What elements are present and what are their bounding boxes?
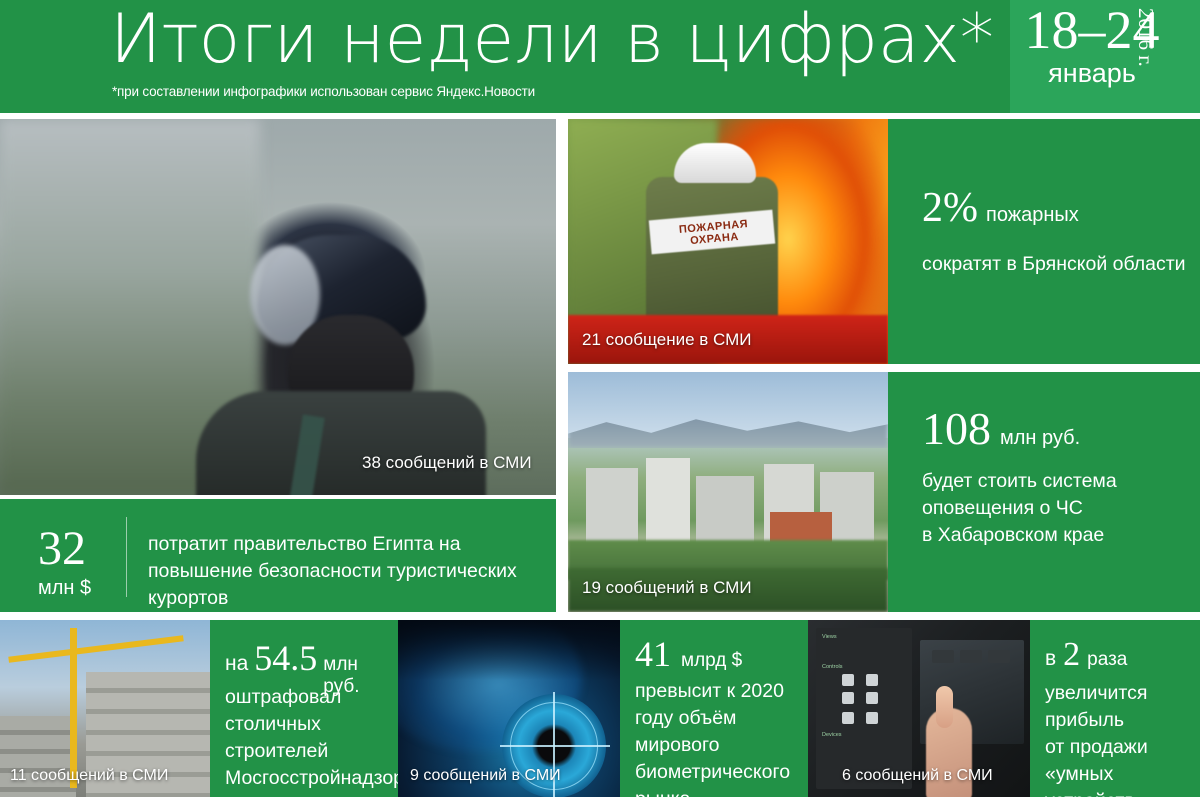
stat-egypt-number-group: 32 млн $ (38, 525, 91, 600)
stat-block-egypt: 32 млн $ потратит правительство Египта н… (0, 499, 556, 612)
stat-smart-number-group: в 2 раза (1045, 638, 1127, 672)
stat-block-biometric-market: 41 млрд $ превысит к 2020 году объём мир… (620, 620, 808, 797)
stat-smart-description-line-4: «умных устройств» (1045, 761, 1200, 797)
eye-icon (842, 692, 854, 704)
stat-biometrics-description-line-1: превысит к 2020 (635, 678, 790, 705)
stat-alert-description-line-1: будет стоить система (922, 468, 1117, 495)
stat-construction-value: 54.5 (254, 640, 317, 676)
stat-firefighters-value: 2% (922, 187, 978, 229)
stat-firefighters-description: сократят в Брянской области (922, 251, 1188, 278)
stat-biometrics-description-line-4: биометрического (635, 759, 790, 786)
thermostat-icon (866, 712, 878, 724)
stat-construction-description-line-1: оштрафовал (225, 684, 398, 711)
stat-alert-number-group: 108 млн руб. (922, 406, 1080, 452)
stat-construction-description: оштрафовал столичных строителей Мосгосст… (225, 684, 398, 792)
stat-block-firefighters: 2% пожарных сократят в Брянской области (888, 119, 1200, 364)
stat-egypt-value: 32 (38, 525, 91, 573)
caption-police: 38 сообщений в СМИ (362, 453, 532, 473)
stat-egypt-divider (126, 517, 127, 597)
stat-construction-description-line-3: строителей (225, 738, 398, 765)
header: Итоги недели в цифрах* *при составлении … (0, 0, 1200, 113)
caption-construction: 11 сообщений в СМИ (10, 767, 168, 785)
stat-alert-description-line-2: оповещения о ЧС (922, 495, 1117, 522)
stat-egypt-unit: млн $ (38, 577, 91, 600)
date-badge: 18–24 январь 2016 г. (1010, 0, 1200, 113)
caption-city: 19 сообщений в СМИ (582, 578, 752, 598)
stat-smart-description-line-3: от продажи (1045, 734, 1200, 761)
header-footnote: *при составлении инфографики использован… (112, 84, 535, 99)
stat-biometrics-number-group: 41 млрд $ (635, 636, 742, 672)
stat-alert-unit: млн руб. (1000, 427, 1080, 450)
ui-chip-shape (932, 650, 954, 663)
stat-block-smart-devices: в 2 раза увеличится прибыль от продажи «… (1030, 620, 1200, 797)
stat-smart-prefix: в (1045, 647, 1056, 671)
stat-construction-prefix: на (225, 652, 248, 676)
ui-chip-shape (988, 650, 1010, 663)
stat-block-alert-system: 108 млн руб. будет стоить система оповещ… (888, 372, 1200, 612)
crosshair-horizontal-icon (500, 745, 610, 747)
stat-biometrics-unit: млрд $ (681, 650, 742, 672)
stat-egypt-description: потратит правительство Египта на повышен… (148, 531, 548, 612)
stat-biometrics-description-line-2: году объём (635, 705, 790, 732)
stat-construction-description-line-2: столичных (225, 711, 398, 738)
stat-smart-unit: раза (1087, 649, 1127, 671)
ui-chip-shape (960, 650, 982, 663)
date-year: 2016 г. (1132, 8, 1158, 104)
eyelid-shadow-shape (398, 620, 620, 680)
photo-firefighter: ПОЖАРНАЯ ОХРАНА 21 сообщение в СМИ (568, 119, 888, 364)
fire-helmet-shape (674, 143, 756, 183)
infographic-page: Итоги недели в цифрах* *при составлении … (0, 0, 1200, 797)
photo-city-khabarovsk: 19 сообщений в СМИ (568, 372, 888, 612)
stat-smart-description: увеличится прибыль от продажи «умных уст… (1045, 680, 1200, 797)
ui-panel-left-shape (816, 628, 912, 789)
stat-construction-description-line-4: Мосгосстройнадзор (225, 765, 398, 792)
lock-icon (842, 712, 854, 724)
building-shape (646, 458, 690, 546)
stat-smart-value: 2 (1063, 638, 1080, 672)
caption-biometrics: 9 сообщений в СМИ (410, 767, 561, 785)
photo-riot-police: 38 сообщений в СМИ (0, 119, 556, 495)
torso-shape (196, 391, 486, 495)
stat-alert-description: будет стоить система оповещения о ЧС в Х… (922, 468, 1117, 549)
header-title-area: Итоги недели в цифрах* *при составлении … (0, 0, 1010, 113)
caption-firefighter: 21 сообщение в СМИ (582, 330, 752, 350)
pointing-finger-shape (936, 686, 953, 728)
crane-mast-shape (70, 628, 77, 788)
home-icon (842, 674, 854, 686)
photo-smart-device-ui: Views Controls Devices 6 сообщений в СМИ (808, 620, 1030, 797)
building-shape (586, 468, 638, 546)
stat-alert-value: 108 (922, 406, 991, 452)
bulb-icon (866, 692, 878, 704)
stat-smart-description-line-2: прибыль (1045, 707, 1200, 734)
stat-biometrics-value: 41 (635, 636, 671, 672)
stat-block-construction-fine: на 54.5 млн руб. оштрафовал столичных ст… (210, 620, 398, 797)
user-icon (866, 674, 878, 686)
stat-alert-description-line-3: в Хабаровском крае (922, 522, 1117, 549)
crane-jib-shape (8, 635, 183, 662)
stat-firefighters-unit: пожарных (986, 204, 1079, 227)
stat-biometrics-description-line-3: мирового (635, 732, 790, 759)
ui-label: Views (822, 634, 837, 640)
photo-biometric-eye: 9 сообщений в СМИ (398, 620, 620, 797)
photo-construction: 11 сообщений в СМИ (0, 620, 210, 797)
stat-biometrics-description-line-5: рынка (635, 786, 790, 797)
ui-label: Devices (822, 732, 842, 738)
caption-smart-devices: 6 сообщений в СМИ (842, 767, 993, 785)
stat-smart-description-line-1: увеличится (1045, 680, 1200, 707)
stat-biometrics-description: превысит к 2020 году объём мирового биом… (635, 678, 790, 797)
stat-firefighters-number-group: 2% пожарных (922, 187, 1079, 229)
ui-label: Controls (822, 664, 842, 670)
page-title: Итоги недели в цифрах* (110, 1, 994, 79)
building-shape (696, 476, 754, 546)
